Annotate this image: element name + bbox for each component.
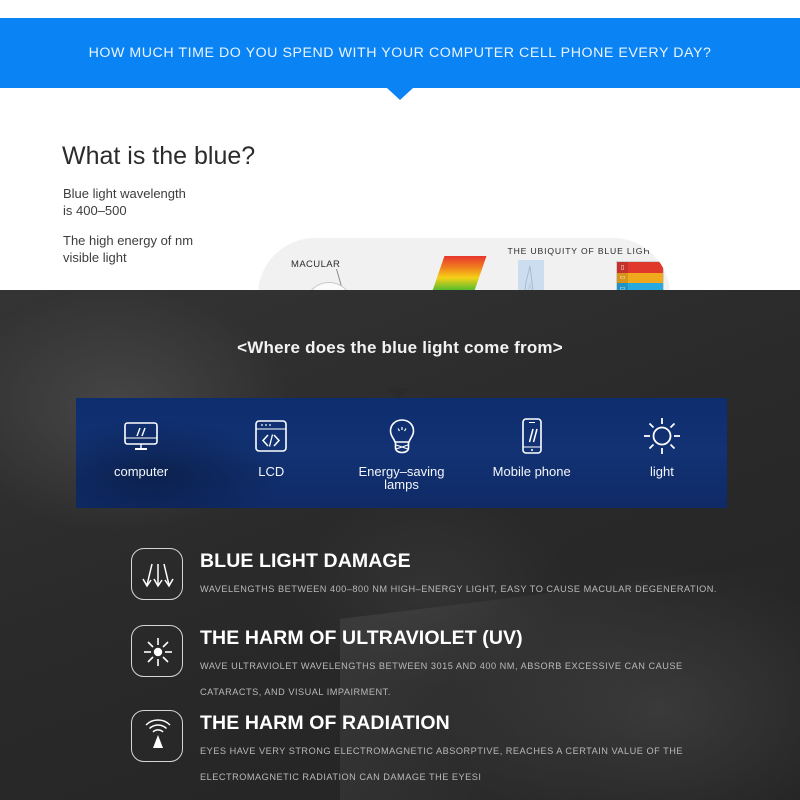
blue-wavelength-text: Blue light wavelength is 400–500 xyxy=(63,185,186,219)
damage-description: WAVELENGTHS BETWEEN 400–800 NM HIGH–ENER… xyxy=(200,576,745,602)
what-is-blue-section: What is the blue? Blue light wavelength … xyxy=(0,100,800,290)
icon-box xyxy=(131,548,183,600)
damage-description: EYES HAVE VERY STRONG ELECTROMAGNETIC AB… xyxy=(200,738,745,790)
sun-burst-icon xyxy=(132,626,184,678)
icon-box xyxy=(131,710,183,762)
damage-title: BLUE LIGHT DAMAGE xyxy=(200,550,411,573)
code-window-icon xyxy=(251,416,291,456)
legend-item: ▯ xyxy=(617,262,663,273)
source-item-mobile-phone[interactable]: Mobile phone xyxy=(467,398,597,508)
source-label: Mobile phone xyxy=(493,465,571,478)
down-arrows-icon xyxy=(132,549,184,601)
car-icon: ▭ xyxy=(617,273,628,284)
legend-item: ▭ xyxy=(617,273,663,284)
source-label: computer xyxy=(114,465,168,478)
icon-box xyxy=(131,625,183,677)
damage-title: THE HARM OF RADIATION xyxy=(200,712,450,735)
smartphone-icon xyxy=(512,416,552,456)
banner-headline: HOW MUCH TIME DO YOU SPEND WITH YOUR COM… xyxy=(0,18,800,88)
source-label: Energy–saving lamps xyxy=(359,465,445,491)
high-energy-text: The high energy of nm visible light xyxy=(63,232,193,266)
legend-color-swatch xyxy=(628,262,663,273)
triangle-down-icon xyxy=(387,88,413,100)
panel-notch-icon xyxy=(387,388,409,399)
monitor-icon xyxy=(121,416,161,456)
header-banner: HOW MUCH TIME DO YOU SPEND WITH YOUR COM… xyxy=(0,18,800,88)
lightbulb-icon xyxy=(382,416,422,456)
legend-color-swatch xyxy=(628,273,663,284)
page-title: What is the blue? xyxy=(62,142,255,171)
damage-title: THE HARM OF ULTRAVIOLET (UV) xyxy=(200,627,523,650)
sun-icon xyxy=(642,416,682,456)
source-item-lcd[interactable]: LCD xyxy=(206,398,336,508)
sources-list: computer LCD xyxy=(76,398,727,508)
dark-section: <Where does the blue light come from> co… xyxy=(0,290,800,800)
damage-description: WAVE ULTRAVIOLET WAVELENGTHS BETWEEN 301… xyxy=(200,653,745,705)
source-item-energy-saving-lamps[interactable]: Energy–saving lamps xyxy=(336,398,466,508)
chart-title: THE UBIQUITY OF BLUE LIGHT xyxy=(498,246,666,256)
source-item-computer[interactable]: computer xyxy=(76,398,206,508)
radiation-signal-icon xyxy=(132,711,184,763)
source-item-light[interactable]: light xyxy=(597,398,727,508)
blue-light-sources-panel: computer LCD xyxy=(76,398,727,508)
section-heading: <Where does the blue light come from> xyxy=(0,338,800,358)
macular-label: MACULAR xyxy=(291,259,340,270)
phone-icon: ▯ xyxy=(617,262,628,273)
source-label: LCD xyxy=(258,465,284,478)
infographic-page: HOW MUCH TIME DO YOU SPEND WITH YOUR COM… xyxy=(0,0,800,800)
source-label: light xyxy=(650,465,674,478)
